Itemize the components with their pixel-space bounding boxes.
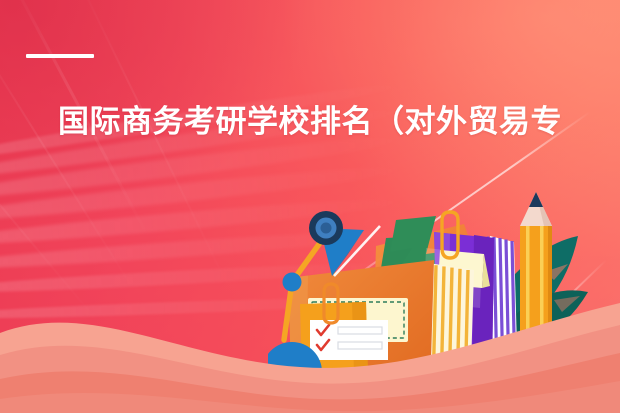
banner-image: 国际商务考研学校排名（对外贸易专	[0, 0, 620, 413]
page-title: 国际商务考研学校排名（对外贸易专	[58, 100, 578, 144]
pencil-tip	[529, 192, 543, 207]
title-underline-dash	[26, 54, 94, 58]
foreground-waves	[0, 263, 620, 413]
